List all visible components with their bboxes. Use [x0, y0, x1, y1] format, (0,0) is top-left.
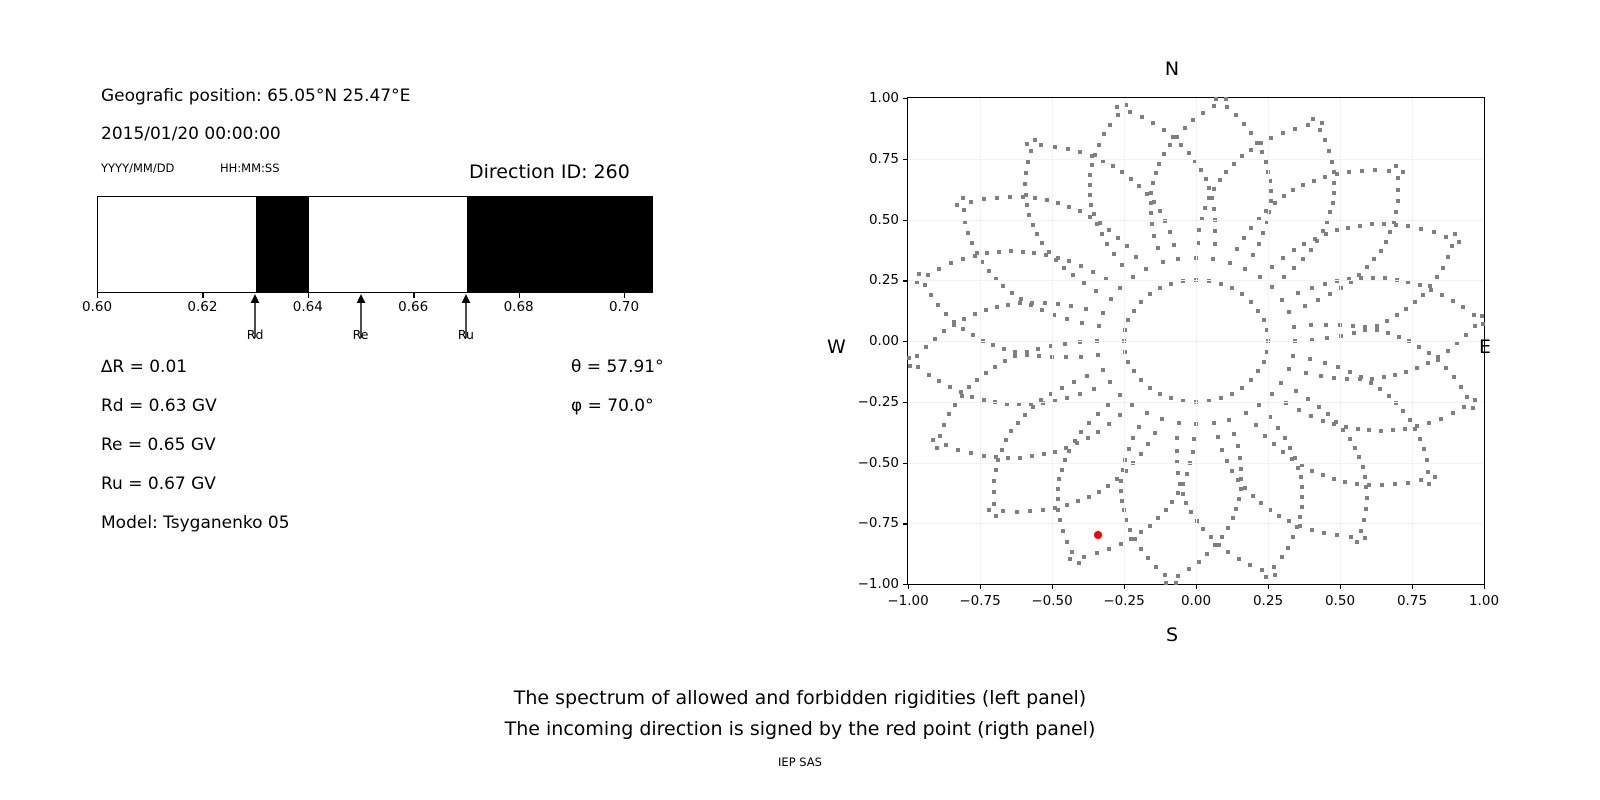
direction-dot — [1417, 345, 1421, 349]
direction-dot — [1191, 450, 1195, 454]
direction-dot — [1432, 230, 1436, 234]
direction-dot — [1332, 181, 1336, 185]
direction-dot — [1300, 495, 1304, 499]
direction-dot — [1145, 411, 1149, 415]
direction-dot — [1234, 113, 1238, 117]
direction-dot — [955, 203, 959, 207]
direction-dot — [1462, 405, 1466, 409]
direction-dot — [1010, 291, 1014, 295]
direction-dot — [1450, 244, 1454, 248]
direction-dot — [1023, 413, 1027, 417]
direction-dot — [1069, 304, 1073, 308]
direction-dot — [1053, 450, 1057, 454]
direction-dot — [1330, 160, 1334, 164]
direction-dot — [1145, 192, 1149, 196]
direction-dot — [1139, 378, 1143, 382]
map-x-tick — [1124, 584, 1125, 589]
direction-dot — [1387, 394, 1391, 398]
direction-dot — [938, 434, 942, 438]
direction-dot — [1224, 170, 1228, 174]
direction-dot — [1061, 529, 1065, 533]
direction-dot — [993, 365, 997, 369]
direction-dot — [1097, 143, 1101, 147]
direction-dot — [1003, 359, 1007, 363]
direction-dot — [1363, 536, 1367, 540]
direction-dot — [1205, 552, 1209, 556]
direction-dot — [1086, 436, 1090, 440]
direction-dot — [917, 272, 921, 276]
direction-dot — [1427, 421, 1431, 425]
direction-dot — [1395, 313, 1399, 317]
direction-dot — [1101, 311, 1105, 315]
direction-dot — [1353, 446, 1357, 450]
direction-dot — [944, 312, 948, 316]
direction-dot — [1249, 131, 1253, 135]
direction-dot — [1309, 414, 1313, 418]
direction-dot — [1296, 291, 1300, 295]
direction-dot — [1365, 265, 1369, 269]
direction-dot — [1239, 487, 1243, 491]
direction-dot — [1293, 127, 1297, 131]
direction-dot — [1320, 121, 1324, 125]
direction-dot — [1226, 526, 1230, 530]
direction-dot — [1347, 170, 1351, 174]
direction-dot — [924, 345, 928, 349]
direction-dot — [1392, 220, 1396, 224]
direction-dot — [995, 305, 999, 309]
direction-dot — [1211, 257, 1215, 261]
direction-dot — [1006, 303, 1010, 307]
direction-dot — [1144, 267, 1148, 271]
direction-dot — [1131, 275, 1135, 279]
direction-dot — [1249, 378, 1253, 382]
map-x-tick-label: −1.00 — [887, 593, 928, 609]
direction-dot — [1237, 497, 1241, 501]
map-y-tick-label: 0.00 — [869, 333, 899, 349]
direction-dot — [1230, 392, 1234, 396]
direction-dot — [1116, 113, 1120, 117]
direction-dot — [1175, 135, 1179, 139]
direction-dot — [1056, 302, 1060, 306]
direction-dot — [1139, 547, 1143, 551]
direction-dot — [1146, 442, 1150, 446]
direction-dot — [1378, 387, 1382, 391]
direction-dot — [1168, 230, 1172, 234]
direction-dot — [1044, 253, 1048, 257]
direction-dot — [1228, 261, 1232, 265]
direction-dot — [1102, 132, 1106, 136]
caption-line-1: The spectrum of allowed and forbidden ri… — [514, 687, 1086, 709]
direction-dot — [1391, 428, 1395, 432]
direction-dot — [1009, 249, 1013, 253]
direction-dot — [1213, 229, 1217, 233]
direction-dot — [915, 354, 919, 358]
direction-dot — [1372, 257, 1376, 261]
direction-dot — [962, 317, 966, 321]
direction-dot — [1441, 266, 1445, 270]
direction-dot — [1119, 542, 1123, 546]
incoming-direction-point[interactable] — [1094, 531, 1102, 539]
direction-dot — [952, 323, 956, 327]
direction-dot — [1056, 508, 1060, 512]
map-y-tick-label: 0.50 — [869, 212, 899, 228]
direction-dot — [1009, 429, 1013, 433]
direction-dot — [1239, 467, 1243, 471]
direction-dot — [1162, 128, 1166, 132]
map-y-tick — [903, 98, 908, 99]
direction-dot — [1224, 97, 1228, 101]
direction-dot — [1457, 240, 1461, 244]
direction-dot — [1401, 170, 1405, 174]
map-y-tick — [903, 402, 908, 403]
direction-dot — [1287, 367, 1291, 371]
direction-dot — [1240, 386, 1244, 390]
direction-dot — [1126, 318, 1130, 322]
direction-dot — [1262, 318, 1266, 322]
direction-dot — [1072, 380, 1076, 384]
direction-dot — [1452, 375, 1456, 379]
direction-dot — [1451, 299, 1455, 303]
direction-dot — [1039, 143, 1043, 147]
direction-dot — [1127, 447, 1131, 451]
direction-dot — [1000, 448, 1004, 452]
direction-dot — [1270, 285, 1274, 289]
direction-dot — [1119, 489, 1123, 493]
direction-dot — [1082, 555, 1086, 559]
direction-dot — [1386, 331, 1390, 335]
direction-dot — [937, 379, 941, 383]
direction-dot — [1427, 351, 1431, 355]
direction-dot — [1134, 255, 1138, 259]
direction-dot — [1158, 209, 1162, 213]
direction-dot — [1106, 484, 1110, 488]
direction-dot — [1214, 97, 1218, 101]
direction-dot — [1002, 347, 1006, 351]
direction-dot — [992, 479, 996, 483]
direction-dot — [1156, 516, 1160, 520]
map-x-tick-label: 0.25 — [1253, 593, 1283, 609]
direction-dot — [1033, 138, 1037, 142]
direction-dot — [1096, 412, 1100, 416]
direction-dot — [1176, 257, 1180, 261]
direction-dot — [1225, 105, 1229, 109]
direction-dot — [1367, 483, 1371, 487]
direction-dot — [1413, 300, 1417, 304]
direction-dot — [1183, 126, 1187, 130]
direction-dot — [1276, 426, 1280, 430]
direction-dot — [1415, 366, 1419, 370]
direction-dot — [1306, 397, 1310, 401]
direction-dot — [1220, 535, 1224, 539]
direction-dot — [1085, 374, 1089, 378]
direction-dot — [973, 254, 977, 258]
direction-dot — [1036, 347, 1040, 351]
direction-dot — [1107, 422, 1111, 426]
direction-dot — [1255, 141, 1259, 145]
map-y-tick — [903, 280, 908, 281]
gridline-horizontal — [908, 463, 1484, 464]
direction-dot — [1168, 143, 1172, 147]
direction-dot — [1248, 563, 1252, 567]
direction-dot — [1004, 438, 1008, 442]
direction-dot — [1187, 567, 1191, 571]
direction-dot — [949, 261, 953, 265]
direction-dot — [1045, 198, 1049, 202]
map-x-tick — [1484, 584, 1485, 589]
direction-dot — [1406, 481, 1410, 485]
direction-dot — [1261, 231, 1265, 235]
direction-dot — [1426, 361, 1430, 365]
direction-dot — [1301, 257, 1305, 261]
direction-dot — [1169, 282, 1173, 286]
direction-dot — [916, 365, 920, 369]
direction-dot — [1056, 256, 1060, 260]
direction-dot — [1031, 223, 1035, 227]
direction-dot — [1321, 229, 1325, 233]
compass-north-label: N — [1165, 58, 1179, 80]
direction-dot — [1112, 252, 1116, 256]
direction-dot — [1153, 431, 1157, 435]
direction-dot — [1358, 224, 1362, 228]
direction-dot — [1232, 162, 1236, 166]
direction-dot — [1237, 557, 1241, 561]
direction-dot — [1149, 211, 1153, 215]
direction-dot — [967, 385, 971, 389]
direction-dot — [1270, 392, 1274, 396]
direction-dot — [1078, 209, 1082, 213]
direction-dot — [1087, 495, 1091, 499]
direction-dot — [1094, 289, 1098, 293]
direction-dot — [1360, 169, 1364, 173]
direction-dot — [1343, 480, 1347, 484]
map-x-tick — [1412, 584, 1413, 589]
direction-dot — [1204, 177, 1208, 181]
direction-dot — [1230, 286, 1234, 290]
direction-dot — [1164, 508, 1168, 512]
direction-dot — [1139, 452, 1143, 456]
direction-dot — [1396, 199, 1400, 203]
direction-dot — [1361, 465, 1365, 469]
direction-dot — [1380, 483, 1384, 487]
map-x-tick — [1052, 584, 1053, 589]
direction-dot — [1332, 170, 1336, 174]
direction-dot — [1088, 193, 1092, 197]
direction-dot — [1355, 540, 1359, 544]
direction-dot — [1419, 478, 1423, 482]
direction-dot — [1108, 380, 1112, 384]
direction-dot — [1379, 429, 1383, 433]
direction-dot — [1446, 255, 1450, 259]
direction-dot — [1132, 309, 1136, 313]
map-x-tick-label: 0.50 — [1325, 593, 1355, 609]
direction-dot — [1280, 555, 1284, 559]
map-x-tick — [908, 584, 909, 589]
direction-dot — [1148, 386, 1152, 390]
direction-dot — [1063, 458, 1067, 462]
direction-dot — [1331, 201, 1335, 205]
direction-dot — [987, 508, 991, 512]
direction-dot — [1079, 430, 1083, 434]
direction-dot — [1179, 143, 1183, 147]
direction-dot — [926, 273, 930, 277]
direction-dot — [1185, 472, 1189, 476]
direction-dot — [996, 458, 1000, 462]
direction-dot — [1298, 515, 1302, 519]
direction-dot — [1175, 449, 1179, 453]
direction-dot — [1355, 482, 1359, 486]
gridline-horizontal — [908, 280, 1484, 281]
direction-dot — [1197, 560, 1201, 564]
direction-dot — [947, 412, 951, 416]
direction-dot — [1301, 183, 1305, 187]
direction-dot — [1325, 220, 1329, 224]
direction-dot — [1118, 286, 1122, 290]
direction-dot — [1332, 191, 1336, 195]
direction-dot — [1379, 249, 1383, 253]
direction-dot — [1357, 273, 1361, 277]
direction-dot — [1269, 136, 1273, 140]
direction-dot — [1234, 507, 1238, 511]
direction-dot — [1397, 335, 1401, 339]
direction-dot — [1260, 150, 1264, 154]
map-x-tick-label: −0.75 — [959, 593, 1000, 609]
direction-dot — [1089, 203, 1093, 207]
direction-dot — [1323, 175, 1327, 179]
direction-dot — [1207, 186, 1211, 190]
direction-dot — [1292, 266, 1296, 270]
direction-dot — [1068, 557, 1072, 561]
direction-dot — [1030, 301, 1034, 305]
direction-dot — [1404, 307, 1408, 311]
direction-dot — [1157, 162, 1161, 166]
direction-dot — [1332, 376, 1336, 380]
direction-dot — [1283, 436, 1287, 440]
direction-dot — [1298, 524, 1302, 528]
direction-dot — [1162, 152, 1166, 156]
direction-dot — [1128, 528, 1132, 532]
direction-dot — [956, 448, 960, 452]
direction-dot — [931, 438, 935, 442]
direction-dot — [1335, 533, 1339, 537]
direction-dot — [1212, 421, 1216, 425]
direction-dot — [1092, 212, 1096, 216]
direction-dot — [1270, 265, 1274, 269]
direction-dot — [1008, 195, 1012, 199]
direction-dot — [1178, 482, 1182, 486]
direction-dot — [1349, 535, 1353, 539]
direction-dot — [1137, 184, 1141, 188]
direction-dot — [1290, 457, 1294, 461]
direction-dot — [1236, 478, 1240, 482]
direction-dot — [1001, 509, 1005, 513]
direction-dot — [1332, 477, 1336, 481]
map-x-tick-label: −0.50 — [1031, 593, 1072, 609]
direction-dot — [1154, 565, 1158, 569]
direction-dot — [1095, 551, 1099, 555]
direction-dot — [1170, 500, 1174, 504]
direction-dot — [1018, 301, 1022, 305]
direction-dot — [1013, 354, 1017, 358]
direction-dot — [1025, 203, 1029, 207]
direction-dot — [1394, 210, 1398, 214]
direction-dot — [1300, 505, 1304, 509]
direction-dot — [1088, 183, 1092, 187]
direction-dot — [1152, 234, 1156, 238]
direction-dot — [1107, 228, 1111, 232]
direction-dot — [1292, 248, 1296, 252]
direction-dot — [1066, 147, 1070, 151]
map-y-tick-label: −0.25 — [858, 394, 899, 410]
direction-dot — [1321, 419, 1325, 423]
map-y-tick — [903, 220, 908, 221]
direction-dot — [1358, 377, 1362, 381]
direction-dot — [1201, 527, 1205, 531]
direction-dot — [1242, 122, 1246, 126]
direction-dot — [1067, 449, 1071, 453]
direction-dot — [1433, 475, 1437, 479]
direction-dot — [1369, 381, 1373, 385]
direction-dot — [1310, 528, 1314, 532]
direction-dot — [1177, 421, 1181, 425]
direction-dot — [961, 327, 965, 331]
map-y-tick-label: 0.75 — [869, 151, 899, 167]
map-x-tick — [980, 584, 981, 589]
direction-dot — [1213, 242, 1217, 246]
direction-dot — [1323, 361, 1327, 365]
direction-dot — [1067, 205, 1071, 209]
direction-dot — [1260, 568, 1264, 572]
direction-dot — [1251, 494, 1255, 498]
direction-dot — [1322, 531, 1326, 535]
direction-dot — [1388, 230, 1392, 234]
direction-dot — [971, 333, 975, 337]
direction-dot — [966, 231, 970, 235]
direction-dot — [936, 303, 940, 307]
direction-dot — [1351, 324, 1355, 328]
direction-dot — [1216, 435, 1220, 439]
direction-dot — [1106, 403, 1110, 407]
direction-dot — [948, 385, 952, 389]
footer-label: IEP SAS — [778, 755, 822, 769]
direction-dot — [1065, 503, 1069, 507]
direction-dot — [1078, 150, 1082, 154]
direction-dot — [1287, 310, 1291, 314]
direction-dot — [1088, 173, 1092, 177]
direction-dot — [1067, 259, 1071, 263]
direction-dot — [1056, 497, 1060, 501]
direction-dot — [1317, 405, 1321, 409]
direction-dot — [1026, 160, 1030, 164]
direction-dot — [1187, 151, 1191, 155]
direction-dot — [1406, 224, 1410, 228]
direction-dot — [1439, 417, 1443, 421]
direction-dot — [1421, 293, 1425, 297]
direction-dot — [1365, 496, 1369, 500]
direction-dot — [1164, 581, 1168, 585]
direction-dot — [1118, 393, 1122, 397]
direction-dot — [1070, 550, 1074, 554]
direction-dot — [1056, 201, 1060, 205]
direction-dot — [1440, 293, 1444, 297]
direction-dot — [962, 208, 966, 212]
direction-dot — [1092, 387, 1096, 391]
direction-dot — [1273, 201, 1277, 205]
map-x-tick-label: 0.00 — [1181, 593, 1211, 609]
direction-dot — [1115, 105, 1119, 109]
direction-dot — [1062, 266, 1066, 270]
direction-dot — [970, 395, 974, 399]
direction-dot — [1291, 354, 1295, 358]
